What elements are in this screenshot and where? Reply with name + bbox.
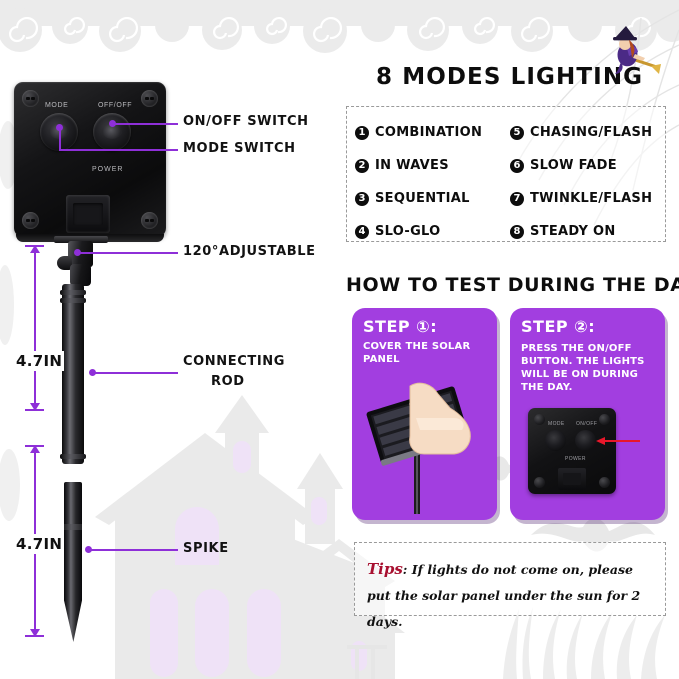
- step-1-title: STEP ①:: [363, 317, 437, 336]
- infographic-root: MODE OFF/OFF POWER O: [0, 0, 679, 679]
- tips-body: If lights do not come on, please put the…: [367, 562, 640, 629]
- connecting-rod-part: [62, 284, 84, 464]
- dimension-label-rod: 4.7IN: [14, 351, 64, 371]
- modes-grid: 1 COMBINATION 5 CHASING/FLASH 2 IN WAVES…: [347, 107, 665, 241]
- mode-number: 5: [510, 126, 524, 140]
- callout-line-mode-h: [59, 149, 178, 151]
- mode-item: 1 COMBINATION: [355, 116, 510, 149]
- dimension-line-rod: [34, 246, 36, 410]
- mini-mode-button[interactable]: [545, 430, 566, 451]
- callout-label-mode-switch: MODE SWITCH: [183, 141, 296, 156]
- solar-control-panel: MODE OFF/OFF POWER: [14, 82, 166, 237]
- stake-assembly: [44, 236, 118, 644]
- callout-label-connecting-rod-line2: ROD: [211, 374, 245, 389]
- callout-line-onoff: [112, 123, 178, 125]
- mode-item: 7 TWINKLE/FLASH: [510, 182, 665, 215]
- tips-label: Tips: [367, 560, 403, 578]
- step-2-title: STEP ②:: [521, 317, 595, 336]
- mini-usb-port: [558, 468, 586, 490]
- dimension-tick: [25, 445, 44, 447]
- test-heading: HOW TO TEST DURING THE DAY?: [346, 274, 679, 296]
- screw-icon: [22, 90, 39, 107]
- mode-item: 8 STEADY ON: [510, 215, 665, 248]
- dimension-tick: [25, 409, 44, 411]
- step-1-body: COVER THE SOLAR PANEL: [363, 340, 489, 366]
- step-card-1: STEP ①: COVER THE SOLAR PANEL: [352, 308, 497, 520]
- mode-number: 7: [510, 192, 524, 206]
- mode-label: CHASING/FLASH: [530, 125, 652, 140]
- mode-label: STEADY ON: [530, 224, 616, 239]
- mode-item: 5 CHASING/FLASH: [510, 116, 665, 149]
- mini-mode-label: MODE: [548, 421, 565, 427]
- mode-number: 8: [510, 225, 524, 239]
- screw-icon: [534, 477, 545, 488]
- info-column: 8 MODES LIGHTING 1 COMBINATION: [340, 0, 679, 679]
- mode-number: 6: [510, 159, 524, 173]
- callout-line-rod: [92, 372, 178, 374]
- callout-label-120-adjustable: 120°ADJUSTABLE: [183, 244, 316, 259]
- onoff-button[interactable]: [93, 113, 131, 151]
- dimension-tick: [25, 245, 44, 247]
- panel-mode-label: MODE: [45, 102, 68, 109]
- screw-icon: [534, 414, 545, 425]
- step-2-body: PRESS THE ON/OFF BUTTON. THE LIGHTS WILL…: [521, 342, 657, 394]
- screw-icon: [599, 477, 610, 488]
- callout-label-spike: SPIKE: [183, 541, 229, 556]
- mini-panel-body: MODE ON/OFF POWER: [528, 408, 616, 494]
- screw-icon: [22, 212, 39, 229]
- callout-line-mode-v: [59, 127, 61, 150]
- tips-box: Tips: If lights do not come on, please p…: [354, 542, 666, 616]
- callout-line-adjustable: [77, 252, 178, 254]
- mode-label: TWINKLE/FLASH: [530, 191, 652, 206]
- mode-item: 6 SLOW FADE: [510, 149, 665, 182]
- panel-onoff-label: OFF/OFF: [98, 102, 132, 109]
- mode-label: SEQUENTIAL: [375, 191, 470, 206]
- mode-item: 2 IN WAVES: [355, 149, 510, 182]
- mode-label: SLO-GLO: [375, 224, 441, 239]
- callout-label-onoff-switch: ON/OFF SWITCH: [183, 114, 309, 129]
- witch-on-broom-icon: [601, 26, 661, 84]
- mode-item: 3 SEQUENTIAL: [355, 182, 510, 215]
- mini-power-label: POWER: [565, 456, 586, 462]
- callout-line-spike: [88, 549, 178, 551]
- mode-label: COMBINATION: [375, 125, 482, 140]
- tips-text: Tips: If lights do not come on, please p…: [367, 556, 655, 635]
- mode-label: IN WAVES: [375, 158, 449, 173]
- hand-covering-solar-panel-illustration: [358, 374, 494, 514]
- modes-list-box: 1 COMBINATION 5 CHASING/FLASH 2 IN WAVES…: [346, 106, 666, 242]
- product-diagram-column: MODE OFF/OFF POWER O: [0, 0, 340, 679]
- mini-onoff-label: ON/OFF: [576, 421, 597, 427]
- callout-label-connecting-rod-line1: CONNECTING: [183, 354, 285, 369]
- mode-number: 3: [355, 192, 369, 206]
- mode-number: 1: [355, 126, 369, 140]
- panel-power-label: POWER: [92, 166, 123, 173]
- panel-body: MODE OFF/OFF POWER: [14, 82, 166, 237]
- screw-icon: [141, 90, 158, 107]
- screw-icon: [599, 414, 610, 425]
- usb-port: [66, 195, 110, 233]
- adjustable-bracket: [54, 236, 108, 288]
- mode-label: SLOW FADE: [530, 158, 617, 173]
- ground-spike-part: [64, 482, 82, 642]
- mode-number: 4: [355, 225, 369, 239]
- mode-item: 4 SLO-GLO: [355, 215, 510, 248]
- step-card-2: STEP ②: PRESS THE ON/OFF BUTTON. THE LIG…: [510, 308, 665, 520]
- dimension-label-spike: 4.7IN: [14, 534, 64, 554]
- red-arrow-icon: [596, 437, 640, 444]
- mode-number: 2: [355, 159, 369, 173]
- screw-icon: [141, 212, 158, 229]
- control-panel-illustration: MODE ON/OFF POWER: [528, 408, 648, 510]
- dimension-tick: [25, 635, 44, 637]
- mini-onoff-button[interactable]: [575, 430, 596, 451]
